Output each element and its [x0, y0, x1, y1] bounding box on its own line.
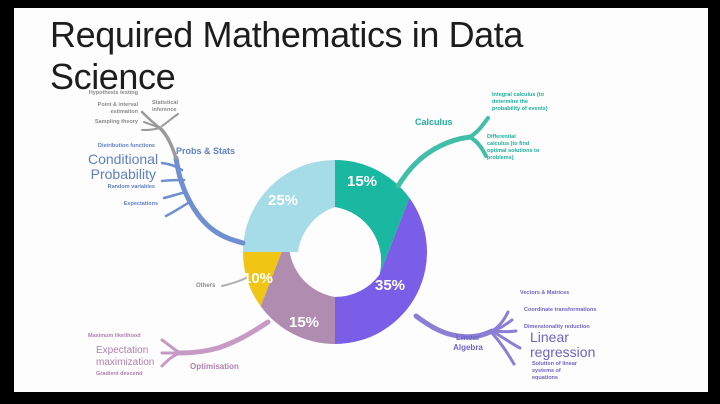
- branch-item-random-variables[interactable]: Random variables: [90, 184, 155, 190]
- donut-label-optimisation: 15%: [289, 314, 319, 331]
- frame-right: [708, 0, 720, 404]
- branch-label-others[interactable]: Others: [196, 283, 215, 289]
- branch-optimisation: [162, 322, 268, 366]
- branch-item-integral-calculus[interactable]: Integral calculus (to determine the prob…: [492, 92, 582, 113]
- branch-label-optimisation[interactable]: Optimisation: [190, 362, 239, 371]
- branch-item-coordinate-transformations[interactable]: Coordinate transformations: [524, 307, 624, 313]
- donut-label-calculus: 15%: [347, 173, 377, 190]
- branch-item-differential-calculus[interactable]: Differential calculus (to find optimal s…: [487, 134, 577, 162]
- donut-label-probs-stats: 25%: [268, 192, 298, 209]
- branch-item-linear-regression[interactable]: Linear regression: [530, 330, 610, 360]
- branch-label-calculus[interactable]: Calculus: [415, 117, 453, 127]
- branch-item-distribution-functions[interactable]: Distribution functions: [85, 143, 155, 149]
- branch-item-solution-linear-systems[interactable]: Solution of linear systems of equations: [532, 361, 602, 382]
- branch-calculus: [398, 118, 488, 186]
- branch-item-expectation-maximization[interactable]: Expectation maximization: [96, 345, 162, 369]
- branch-item-hypothesis-testing[interactable]: Hypothesis testing: [86, 90, 138, 96]
- branch-probs-stats: [142, 112, 243, 243]
- donut-label-others: 10%: [243, 270, 273, 287]
- frame-bottom: [0, 392, 720, 404]
- branch-label-probs-stats[interactable]: Probs & Stats: [176, 146, 235, 156]
- branch-item-gradient-descend[interactable]: Gradient descend: [96, 371, 162, 377]
- branch-item-expectations[interactable]: Expectations: [100, 201, 158, 207]
- branch-item-maximum-likelihood[interactable]: Maximum likelihood: [88, 333, 158, 339]
- donut-label-linear-algebra: 35%: [375, 277, 405, 294]
- frame-left: [0, 0, 14, 404]
- slide-canvas: Required Mathematics in Data Science 15%…: [0, 0, 720, 404]
- branch-label-linear-algebra[interactable]: Linear Algebra: [446, 333, 490, 353]
- branch-item-vectors-matrices[interactable]: Vectors & Matrices: [520, 290, 610, 296]
- branch-item-sampling-theory[interactable]: Sampling theory: [84, 119, 138, 125]
- frame-top: [0, 0, 720, 8]
- branch-item-statistical-inference[interactable]: Statistical inference: [152, 100, 212, 114]
- branch-item-conditional-probability[interactable]: Conditional Probability: [88, 152, 156, 182]
- branch-item-point-interval-estimation[interactable]: Point & interval estimation: [84, 102, 138, 116]
